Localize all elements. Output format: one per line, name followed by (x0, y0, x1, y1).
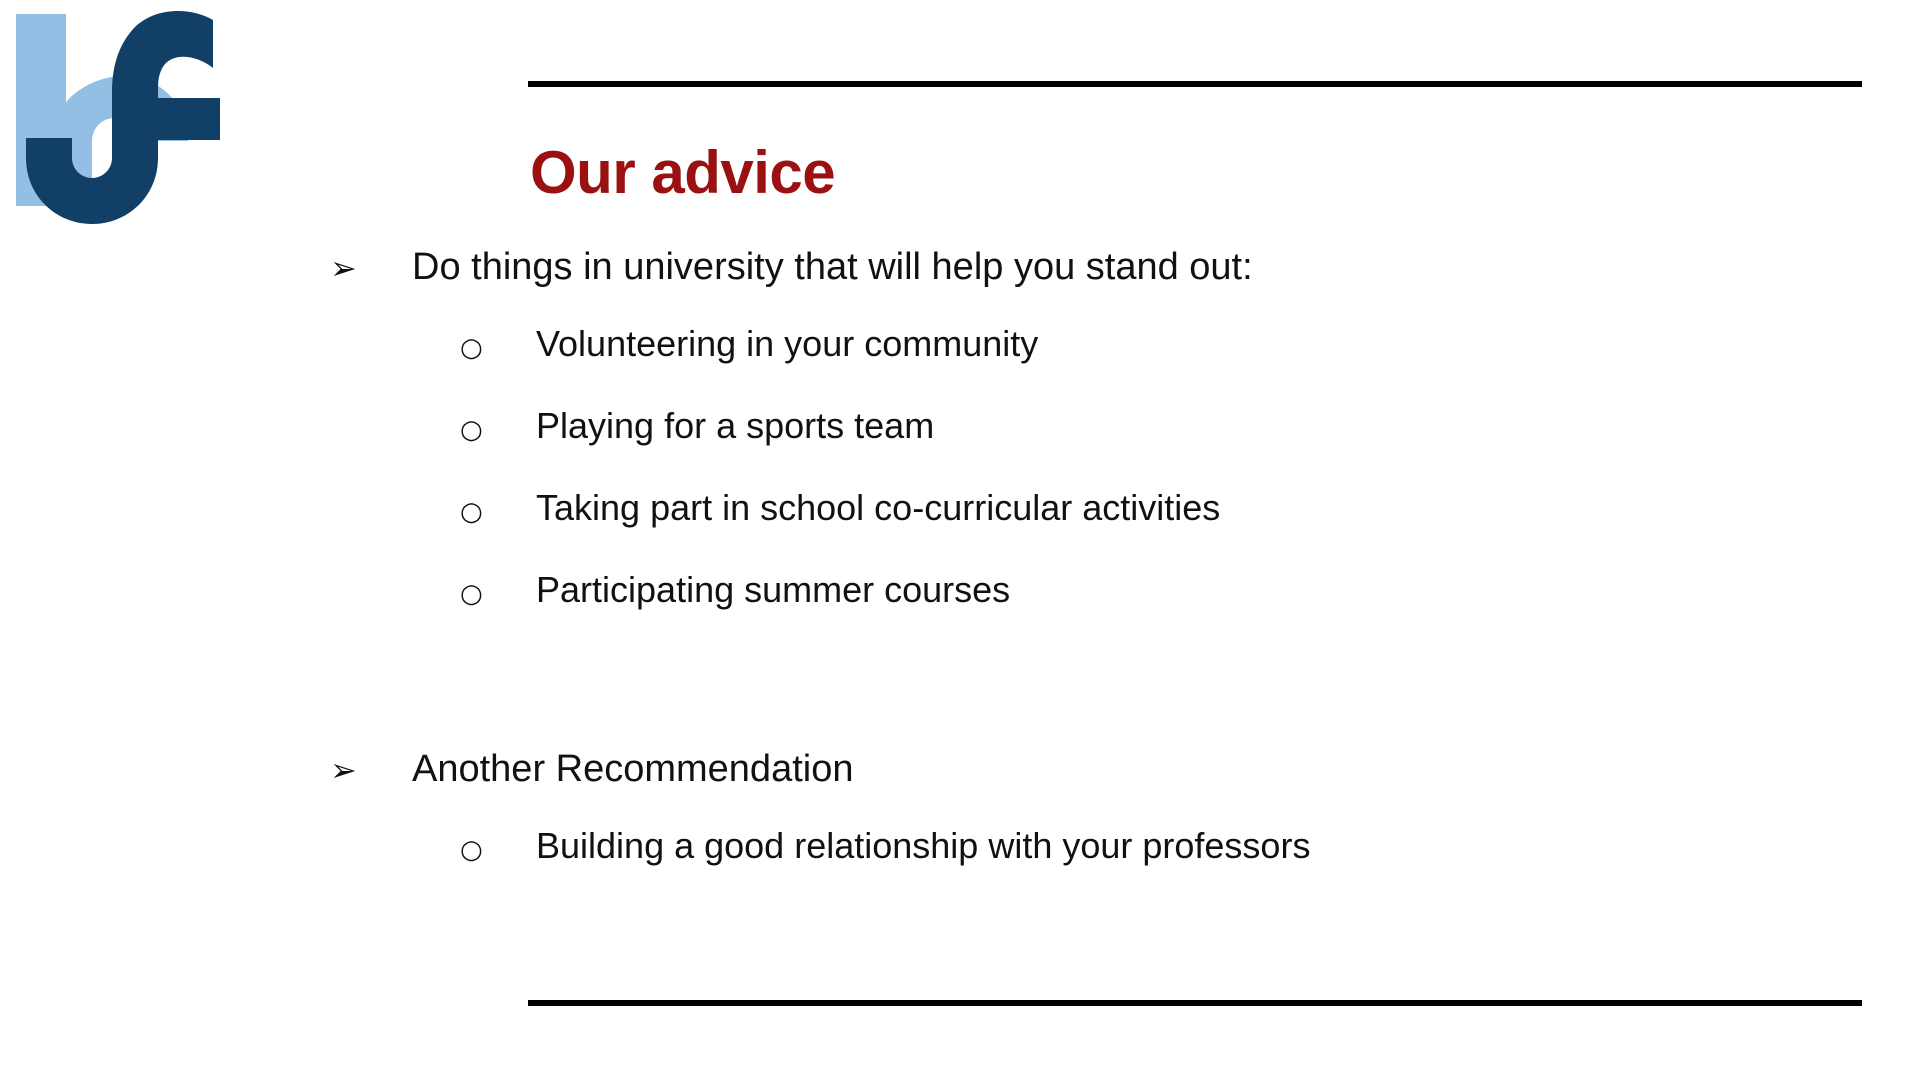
circle-bullet-icon: ○ (460, 581, 536, 607)
list-item-level1[interactable]: ➢ Another Recommendation (330, 750, 1850, 828)
list-item-level2[interactable]: ○ Playing for a sports team (330, 408, 1850, 490)
list-item-level2[interactable]: ○ Building a good relationship with your… (330, 828, 1850, 910)
circle-bullet-icon: ○ (460, 499, 536, 525)
list-item-label: Taking part in school co-curricular acti… (536, 490, 1220, 526)
top-divider (528, 81, 1862, 87)
slide-title: Our advice (530, 140, 835, 206)
arrow-bullet-icon: ➢ (330, 754, 412, 786)
bullet-list: ➢ Do things in university that will help… (330, 248, 1850, 910)
list-item-label: Participating summer courses (536, 572, 1010, 608)
circle-bullet-icon: ○ (460, 837, 536, 863)
bf-logo-icon (8, 6, 228, 226)
list-item-label: Volunteering in your community (536, 326, 1038, 362)
list-item-label: Do things in university that will help y… (412, 248, 1253, 286)
list-item-level2[interactable]: ○ Participating summer courses (330, 572, 1850, 654)
bottom-divider (528, 1000, 1862, 1006)
list-item-level1[interactable]: ➢ Do things in university that will help… (330, 248, 1850, 326)
circle-bullet-icon: ○ (460, 417, 536, 443)
list-item-level2[interactable]: ○ Taking part in school co-curricular ac… (330, 490, 1850, 572)
list-item-label: Building a good relationship with your p… (536, 828, 1310, 864)
list-item-label: Playing for a sports team (536, 408, 934, 444)
group-spacer (330, 654, 1850, 750)
slide-canvas: Our advice ➢ Do things in university tha… (0, 0, 1920, 1080)
bf-logo (8, 6, 228, 226)
list-item-level2[interactable]: ○ Volunteering in your community (330, 326, 1850, 408)
list-item-label: Another Recommendation (412, 750, 853, 788)
circle-bullet-icon: ○ (460, 335, 536, 361)
arrow-bullet-icon: ➢ (330, 252, 412, 284)
